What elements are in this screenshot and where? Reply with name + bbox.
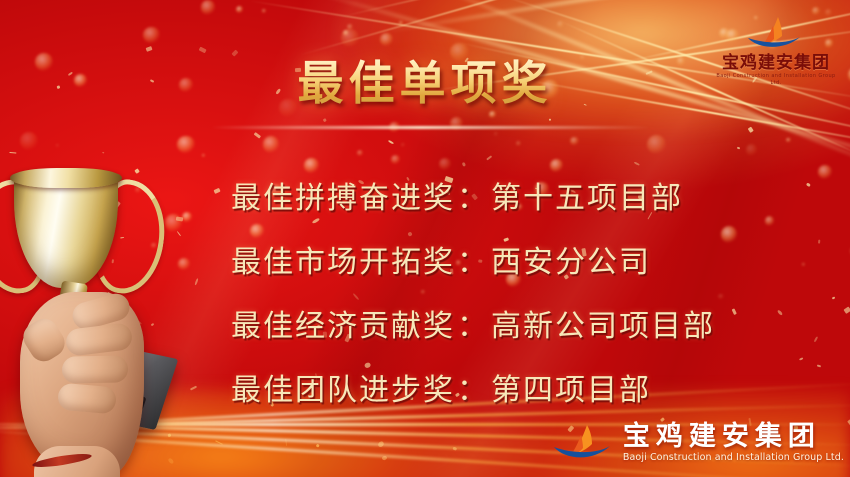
bokeh-particle bbox=[494, 132, 498, 136]
sail-swoosh-icon bbox=[744, 16, 808, 52]
company-logo-bottom: 宝鸡建安集团 Baoji Construction and Installati… bbox=[551, 415, 844, 471]
trophy-rim-icon bbox=[10, 168, 122, 188]
sail-swoosh-icon bbox=[551, 423, 615, 463]
award-name: 最佳经济贡献奖 bbox=[231, 301, 455, 345]
bokeh-particle bbox=[786, 138, 790, 142]
confetti-particle bbox=[145, 46, 152, 51]
confetti-particle bbox=[747, 127, 753, 133]
bokeh-particle bbox=[812, 7, 820, 15]
award-recipient: 第四项目部 bbox=[491, 365, 651, 409]
award-recipient: 第十五项目部 bbox=[491, 173, 683, 217]
confetti-particle bbox=[254, 132, 261, 138]
bokeh-particle bbox=[401, 143, 405, 147]
award-list: 最佳拼搏奋进奖 ： 第十五项目部 最佳市场开拓奖 ： 西安分公司 最佳经济贡献奖… bbox=[231, 163, 831, 419]
finger-pinky bbox=[57, 383, 117, 415]
bokeh-particle bbox=[746, 144, 758, 156]
bokeh-particle bbox=[20, 132, 38, 150]
confetti-particle bbox=[323, 119, 327, 123]
award-separator: ： bbox=[455, 365, 491, 409]
bokeh-particle bbox=[236, 6, 243, 13]
award-row: 最佳团队进步奖 ： 第四项目部 bbox=[231, 355, 831, 419]
award-recipient: 高新公司项目部 bbox=[491, 301, 715, 345]
logo-top-name-cn: 宝鸡建安集团 bbox=[710, 53, 842, 73]
logo-top-name-en: Baoji Construction and Installation Grou… bbox=[710, 73, 842, 87]
confetti-particle bbox=[549, 118, 552, 121]
logo-bottom-name-cn: 宝鸡建安集团 bbox=[623, 422, 844, 452]
finger-middle bbox=[65, 322, 134, 357]
award-recipient: 西安分公司 bbox=[491, 237, 651, 281]
bokeh-particle bbox=[570, 137, 579, 146]
bokeh-particle bbox=[201, 0, 216, 15]
bokeh-particle bbox=[262, 9, 266, 13]
finger-ring bbox=[62, 355, 128, 383]
trophy-cup-icon bbox=[0, 150, 224, 477]
confetti-particle bbox=[388, 140, 394, 144]
bokeh-particle bbox=[557, 21, 564, 28]
award-row: 最佳经济贡献奖 ： 高新公司项目部 bbox=[231, 291, 831, 355]
award-row: 最佳拼搏奋进奖 ： 第十五项目部 bbox=[231, 163, 831, 227]
company-logo-top: 宝鸡建安集团 Baoji Construction and Installati… bbox=[710, 16, 842, 90]
award-separator: ： bbox=[455, 173, 491, 217]
confetti-particle bbox=[486, 156, 492, 161]
award-name: 最佳拼搏奋进奖 bbox=[231, 173, 455, 217]
bokeh-particle bbox=[516, 141, 521, 146]
bokeh-particle bbox=[647, 135, 666, 154]
bokeh-particle bbox=[357, 150, 363, 156]
bokeh-particle bbox=[380, 33, 393, 46]
title-underline-glow bbox=[210, 126, 650, 129]
award-slide: 最佳单项奖 最佳拼搏奋进奖 ： 第十五项目部 最佳市场开拓奖 ： 西安分公 bbox=[0, 0, 850, 477]
bokeh-particle bbox=[399, 21, 403, 25]
finger-thumb bbox=[18, 314, 70, 367]
confetti-particle bbox=[832, 297, 835, 300]
bokeh-particle bbox=[489, 111, 496, 118]
bokeh-particle bbox=[825, 9, 832, 16]
confetti-particle bbox=[737, 147, 740, 150]
bokeh-particle bbox=[56, 144, 59, 147]
award-separator: ： bbox=[455, 301, 491, 345]
bokeh-particle bbox=[341, 29, 359, 47]
award-name: 最佳团队进步奖 bbox=[231, 365, 455, 409]
confetti-particle bbox=[198, 47, 207, 54]
award-row: 最佳市场开拓奖 ： 西安分公司 bbox=[231, 227, 831, 291]
logo-bottom-name-en: Baoji Construction and Installation Grou… bbox=[623, 452, 844, 464]
award-name: 最佳市场开拓奖 bbox=[231, 237, 455, 281]
bokeh-particle bbox=[143, 27, 160, 44]
confetti-particle bbox=[843, 306, 850, 314]
bokeh-particle bbox=[263, 136, 279, 152]
award-separator: ： bbox=[455, 237, 491, 281]
